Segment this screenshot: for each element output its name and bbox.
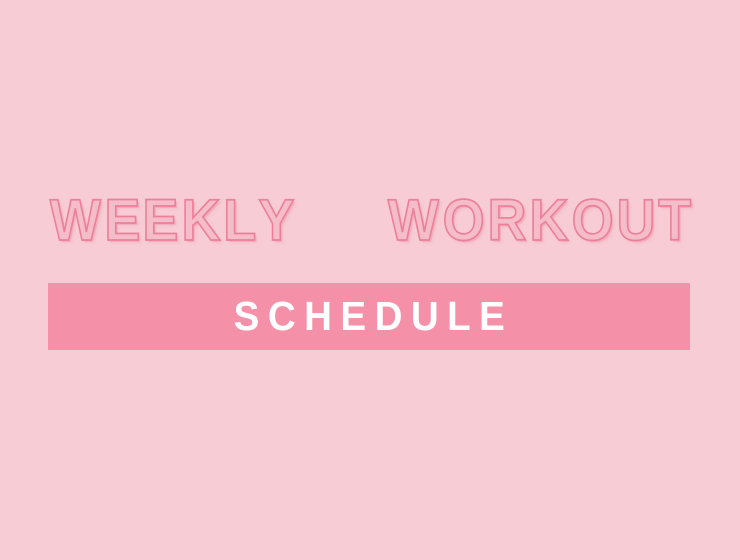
title-word-weekly: WEEKLY: [48, 192, 296, 250]
title-word-workout: WORKOUT: [386, 192, 692, 250]
title-letter: O: [442, 192, 484, 250]
title-letter: R: [487, 192, 526, 250]
title-letter: E: [104, 192, 140, 250]
title-letter: W: [388, 192, 439, 250]
title-letter: O: [571, 192, 613, 250]
title-letter: T: [658, 192, 691, 250]
schedule-banner: SCHEDULE: [48, 283, 690, 350]
title-letter: K: [529, 192, 568, 250]
poster-canvas: WEEKLY WORKOUT SCHEDULE: [0, 0, 740, 560]
title-letter: U: [616, 192, 655, 250]
title-letter: E: [143, 192, 179, 250]
page-title: WEEKLY WORKOUT: [48, 190, 692, 252]
title-letter: Y: [259, 192, 295, 250]
title-letter: K: [182, 192, 221, 250]
title-letter: L: [223, 192, 256, 250]
schedule-banner-label: SCHEDULE: [225, 296, 513, 337]
title-letter: W: [50, 192, 101, 250]
